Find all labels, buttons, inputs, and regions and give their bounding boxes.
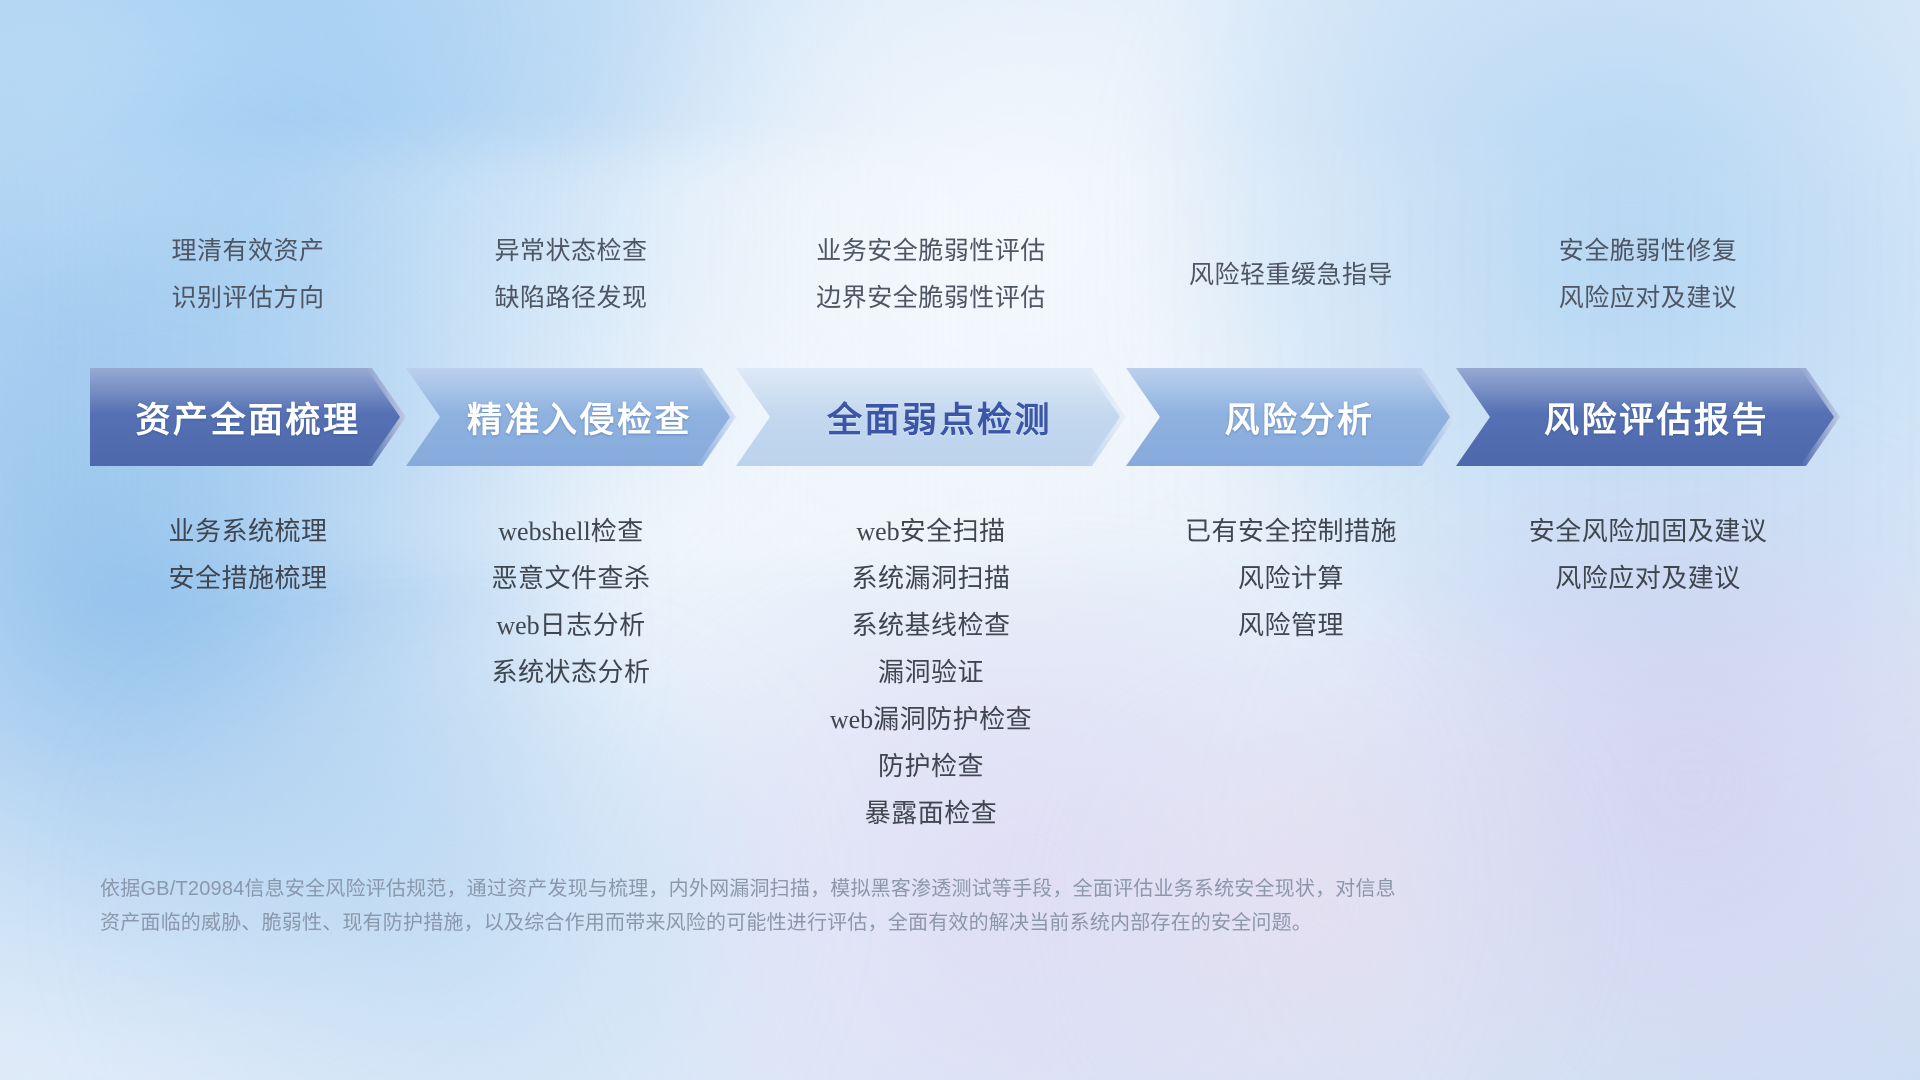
bottom-item-cjk: 安全风险加固及建议 [1529, 516, 1768, 546]
footer-line-1: 依据GB/T20984信息安全风险评估规范，通过资产发现与梳理，内外网漏洞扫描，… [100, 872, 1600, 906]
stage-label-intrusion-check: 精准入侵检查 [467, 392, 692, 443]
stage-label-asset-inventory: 资产全面梳理 [135, 392, 360, 443]
bottom-item: 安全措施梳理 [90, 555, 406, 602]
bottom-item-cjk: 防护检查 [878, 751, 984, 781]
bottom-item-latin: web [830, 705, 873, 734]
bottom-item: webshell检查 [406, 508, 736, 555]
bottom-item-cjk: 暴露面检查 [865, 798, 998, 828]
bottom-item-cjk: 已有安全控制措施 [1185, 516, 1397, 546]
bottom-item-cjk: 漏洞防护检查 [873, 704, 1032, 734]
bottom-item-latin: web [856, 517, 899, 546]
bottom-item-latin: webshell [498, 517, 590, 546]
bottom-item-list: web安全扫描系统漏洞扫描系统基线检查漏洞验证web漏洞防护检查防护检查暴露面检… [736, 508, 1126, 837]
bottom-item-cjk: 系统状态分析 [491, 657, 650, 687]
bottom-item-cjk: 恶意文件查杀 [491, 563, 650, 593]
bottom-item: 暴露面检查 [736, 790, 1126, 837]
footer-line-2: 资产面临的威胁、脆弱性、现有防护措施，以及综合作用而带来风险的可能性进行评估，全… [100, 906, 1600, 940]
bottom-item: 已有安全控制措施 [1126, 508, 1456, 555]
bottom-item-cjk: 日志分析 [540, 610, 646, 640]
bottom-item-cjk: 业务系统梳理 [168, 516, 327, 546]
bottom-item-list: 已有安全控制措施风险计算风险管理 [1126, 508, 1456, 649]
stage-label-weakness-detection: 全面弱点检测 [827, 392, 1052, 443]
bottom-item-cjk: 安全措施梳理 [168, 563, 327, 593]
bottom-item-cjk: 检查 [591, 516, 644, 546]
bottom-item: web日志分析 [406, 602, 736, 649]
bottom-item: 系统状态分析 [406, 649, 736, 696]
bottom-item: web安全扫描 [736, 508, 1126, 555]
bottom-item: 风险应对及建议 [1456, 555, 1840, 602]
bottom-item-cjk: 风险管理 [1238, 610, 1344, 640]
bottom-item-cjk: 风险计算 [1238, 563, 1344, 593]
bottom-item: 防护检查 [736, 743, 1126, 790]
bottom-item-list: 业务系统梳理安全措施梳理 [90, 508, 406, 602]
bottom-item: 风险计算 [1126, 555, 1456, 602]
bottom-item-cjk: 安全扫描 [900, 516, 1006, 546]
bottom-item-latin: web [496, 611, 539, 640]
stage-label-risk-report: 风险评估报告 [1544, 392, 1769, 443]
slide-canvas: 理清有效资产识别评估方向异常状态检查缺陷路径发现业务安全脆弱性评估边界安全脆弱性… [0, 0, 1920, 1080]
stage-label-risk-analysis: 风险分析 [1224, 392, 1374, 443]
bottom-item-cjk: 系统漏洞扫描 [851, 563, 1010, 593]
bottom-item-cjk: 风险应对及建议 [1555, 563, 1741, 593]
bottom-item: 业务系统梳理 [90, 508, 406, 555]
bottom-item: 安全风险加固及建议 [1456, 508, 1840, 555]
bottom-item: web漏洞防护检查 [736, 696, 1126, 743]
bottom-item: 系统漏洞扫描 [736, 555, 1126, 602]
bottom-item-list: 安全风险加固及建议风险应对及建议 [1456, 508, 1840, 602]
footer-description: 依据GB/T20984信息安全风险评估规范，通过资产发现与梳理，内外网漏洞扫描，… [100, 872, 1600, 940]
bottom-item: 漏洞验证 [736, 649, 1126, 696]
bottom-item-list: webshell检查恶意文件查杀web日志分析系统状态分析 [406, 508, 736, 696]
bottom-item-cjk: 漏洞验证 [878, 657, 984, 687]
bottom-item: 风险管理 [1126, 602, 1456, 649]
bottom-item: 系统基线检查 [736, 602, 1126, 649]
bottom-item-cjk: 系统基线检查 [851, 610, 1010, 640]
bottom-item: 恶意文件查杀 [406, 555, 736, 602]
